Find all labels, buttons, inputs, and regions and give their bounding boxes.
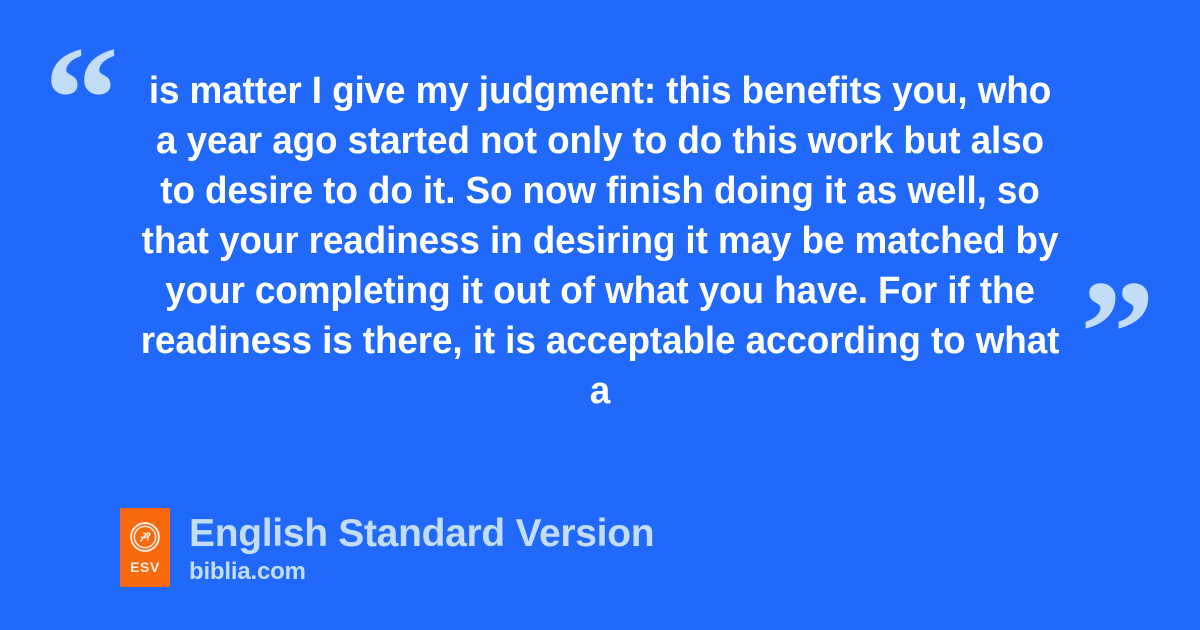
quote-line: a [127,366,1074,416]
quote-card: “ ” is matter I give my judgment: this b… [0,0,1200,630]
closing-quote-mark: ” [1080,258,1155,408]
quote-text-block: is matter I give my judgment: this benef… [112,66,1088,416]
esv-logo-abbr: ESV [130,559,160,575]
brand-text-group: English Standard Version biblia.com [189,508,654,586]
quote-line: is matter I give my judgment: this benef… [127,66,1074,116]
quote-line: your completing it out of what you have.… [127,266,1074,316]
seal-emblem-icon [130,522,160,552]
quote-line: a year ago started not only to do this w… [127,116,1074,166]
brand-title: English Standard Version [189,512,654,556]
opening-quote-mark: “ [44,24,119,174]
quote-line: that your readiness in desiring it may b… [127,216,1074,266]
quote-line: to desire to do it. So now finish doing … [127,166,1074,216]
esv-logo: ESV [120,508,170,587]
quote-line: readiness is there, it is acceptable acc… [127,316,1074,366]
brand-site-url: biblia.com [189,558,654,586]
brand-footer: ESV English Standard Version biblia.com [120,508,654,587]
